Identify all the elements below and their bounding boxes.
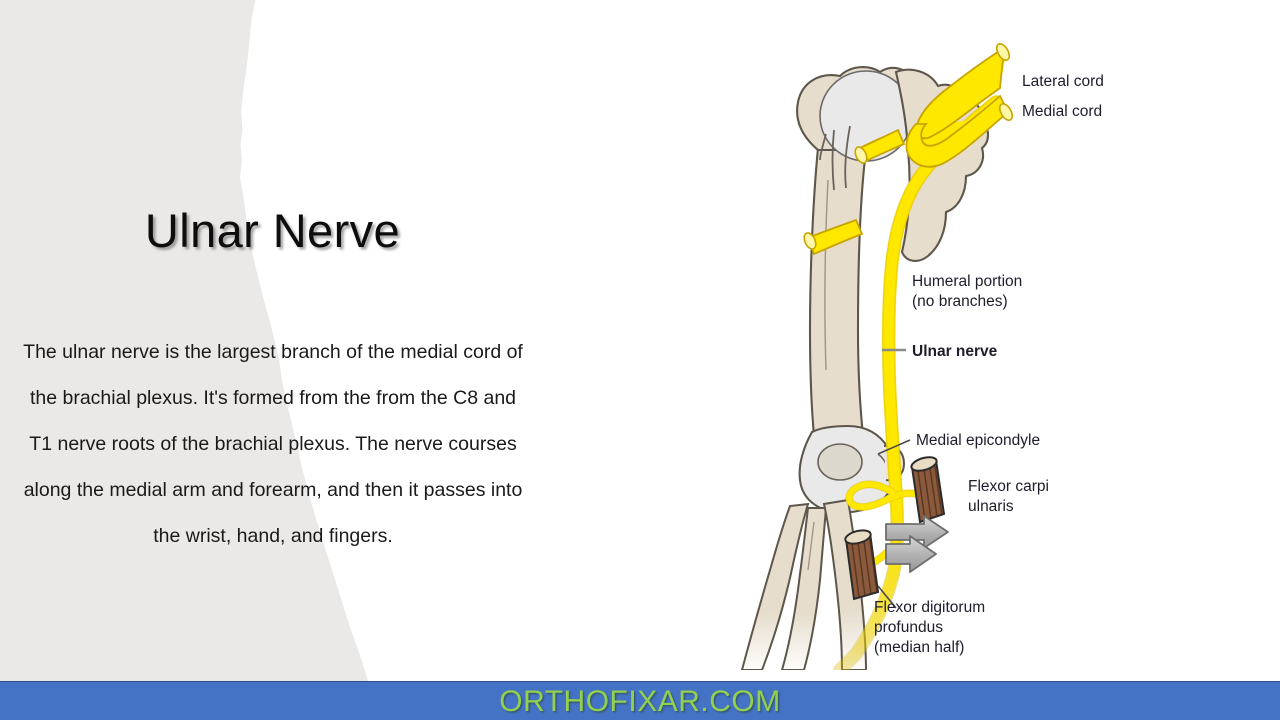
body-paragraph: The ulnar nerve is the largest branch of… xyxy=(18,329,528,559)
label-ulnar-nerve-text: Ulnar nerve xyxy=(912,343,998,360)
label-fdp-line3: (median half) xyxy=(874,639,964,656)
label-flexor-carpi-ulnaris-line1: Flexor carpi xyxy=(968,478,1049,495)
label-ulnar-nerve: Ulnar nerve xyxy=(912,343,998,360)
label-lateral-cord: Lateral cord xyxy=(1022,73,1104,90)
label-fdp-line1: Flexor digitorum xyxy=(874,599,985,616)
label-medial-cord: Medial cord xyxy=(1022,103,1102,120)
slide-canvas: Ulnar Nerve The ulnar nerve is the large… xyxy=(0,0,1280,720)
label-medial-cord-text: Medial cord xyxy=(1022,103,1102,120)
page-title: Ulnar Nerve xyxy=(0,203,545,258)
label-humeral-portion: Humeral portion (no branches) xyxy=(912,273,1022,310)
label-humeral-portion-line2: (no branches) xyxy=(912,293,1008,310)
label-humeral-portion-line1: Humeral portion xyxy=(912,273,1022,290)
label-medial-epicondyle-text: Medial epicondyle xyxy=(916,432,1040,449)
label-fdp-line2: profundus xyxy=(874,619,943,636)
label-flexor-carpi-ulnaris: Flexor carpi ulnaris xyxy=(968,478,1049,515)
flexor-carpi-ulnaris-muscle xyxy=(910,455,944,522)
label-flexor-carpi-ulnaris-line2: ulnaris xyxy=(968,498,1014,515)
direction-arrow xyxy=(886,516,948,572)
footer-watermark-text: ORTHOFIXAR.COM xyxy=(499,687,780,717)
footer-banner: ORTHOFIXAR.COM xyxy=(0,681,1280,720)
ulnar-nerve-diagram: Lateral cord Medial cord Humeral portion… xyxy=(700,30,1260,670)
label-flexor-digitorum-profundus: Flexor digitorum profundus (median half) xyxy=(874,599,985,656)
forearm-bones xyxy=(742,500,866,670)
label-medial-epicondyle: Medial epicondyle xyxy=(916,432,1040,449)
label-lateral-cord-text: Lateral cord xyxy=(1022,73,1104,90)
